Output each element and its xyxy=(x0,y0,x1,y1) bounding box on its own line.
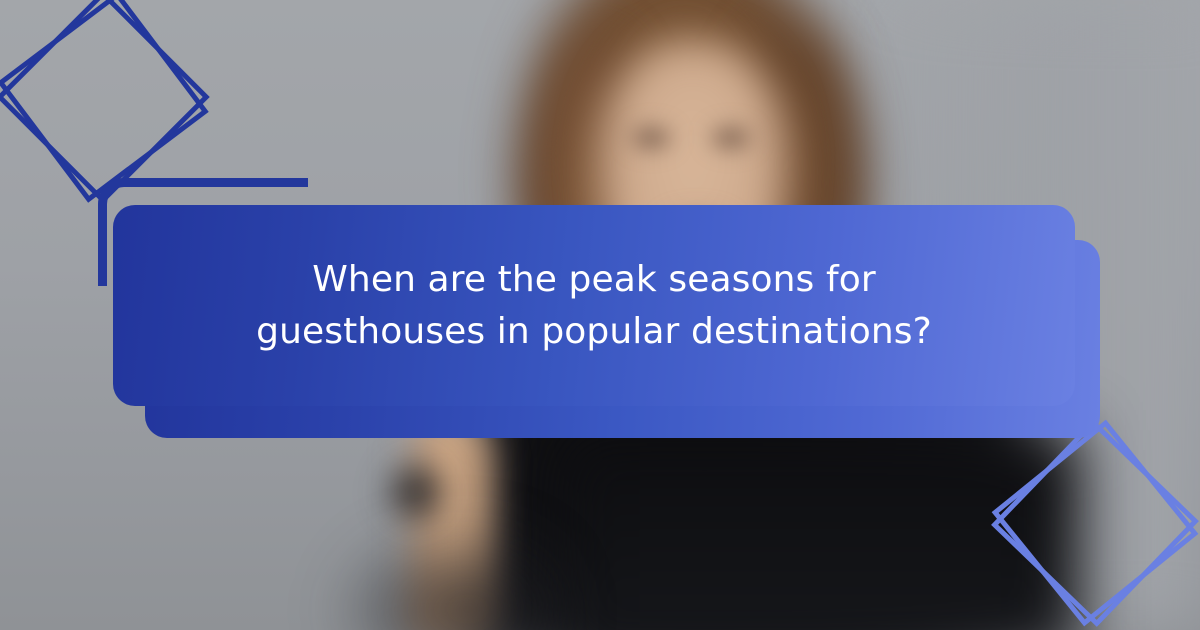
photo-torso-lower xyxy=(560,430,1080,630)
headline-text: When are the peak seasons for guesthouse… xyxy=(179,254,1009,356)
headline-card: When are the peak seasons for guesthouse… xyxy=(113,205,1075,406)
photo-eye-left xyxy=(625,122,677,154)
social-card-canvas: When are the peak seasons for guesthouse… xyxy=(0,0,1200,630)
photo-eye-right xyxy=(705,122,757,154)
